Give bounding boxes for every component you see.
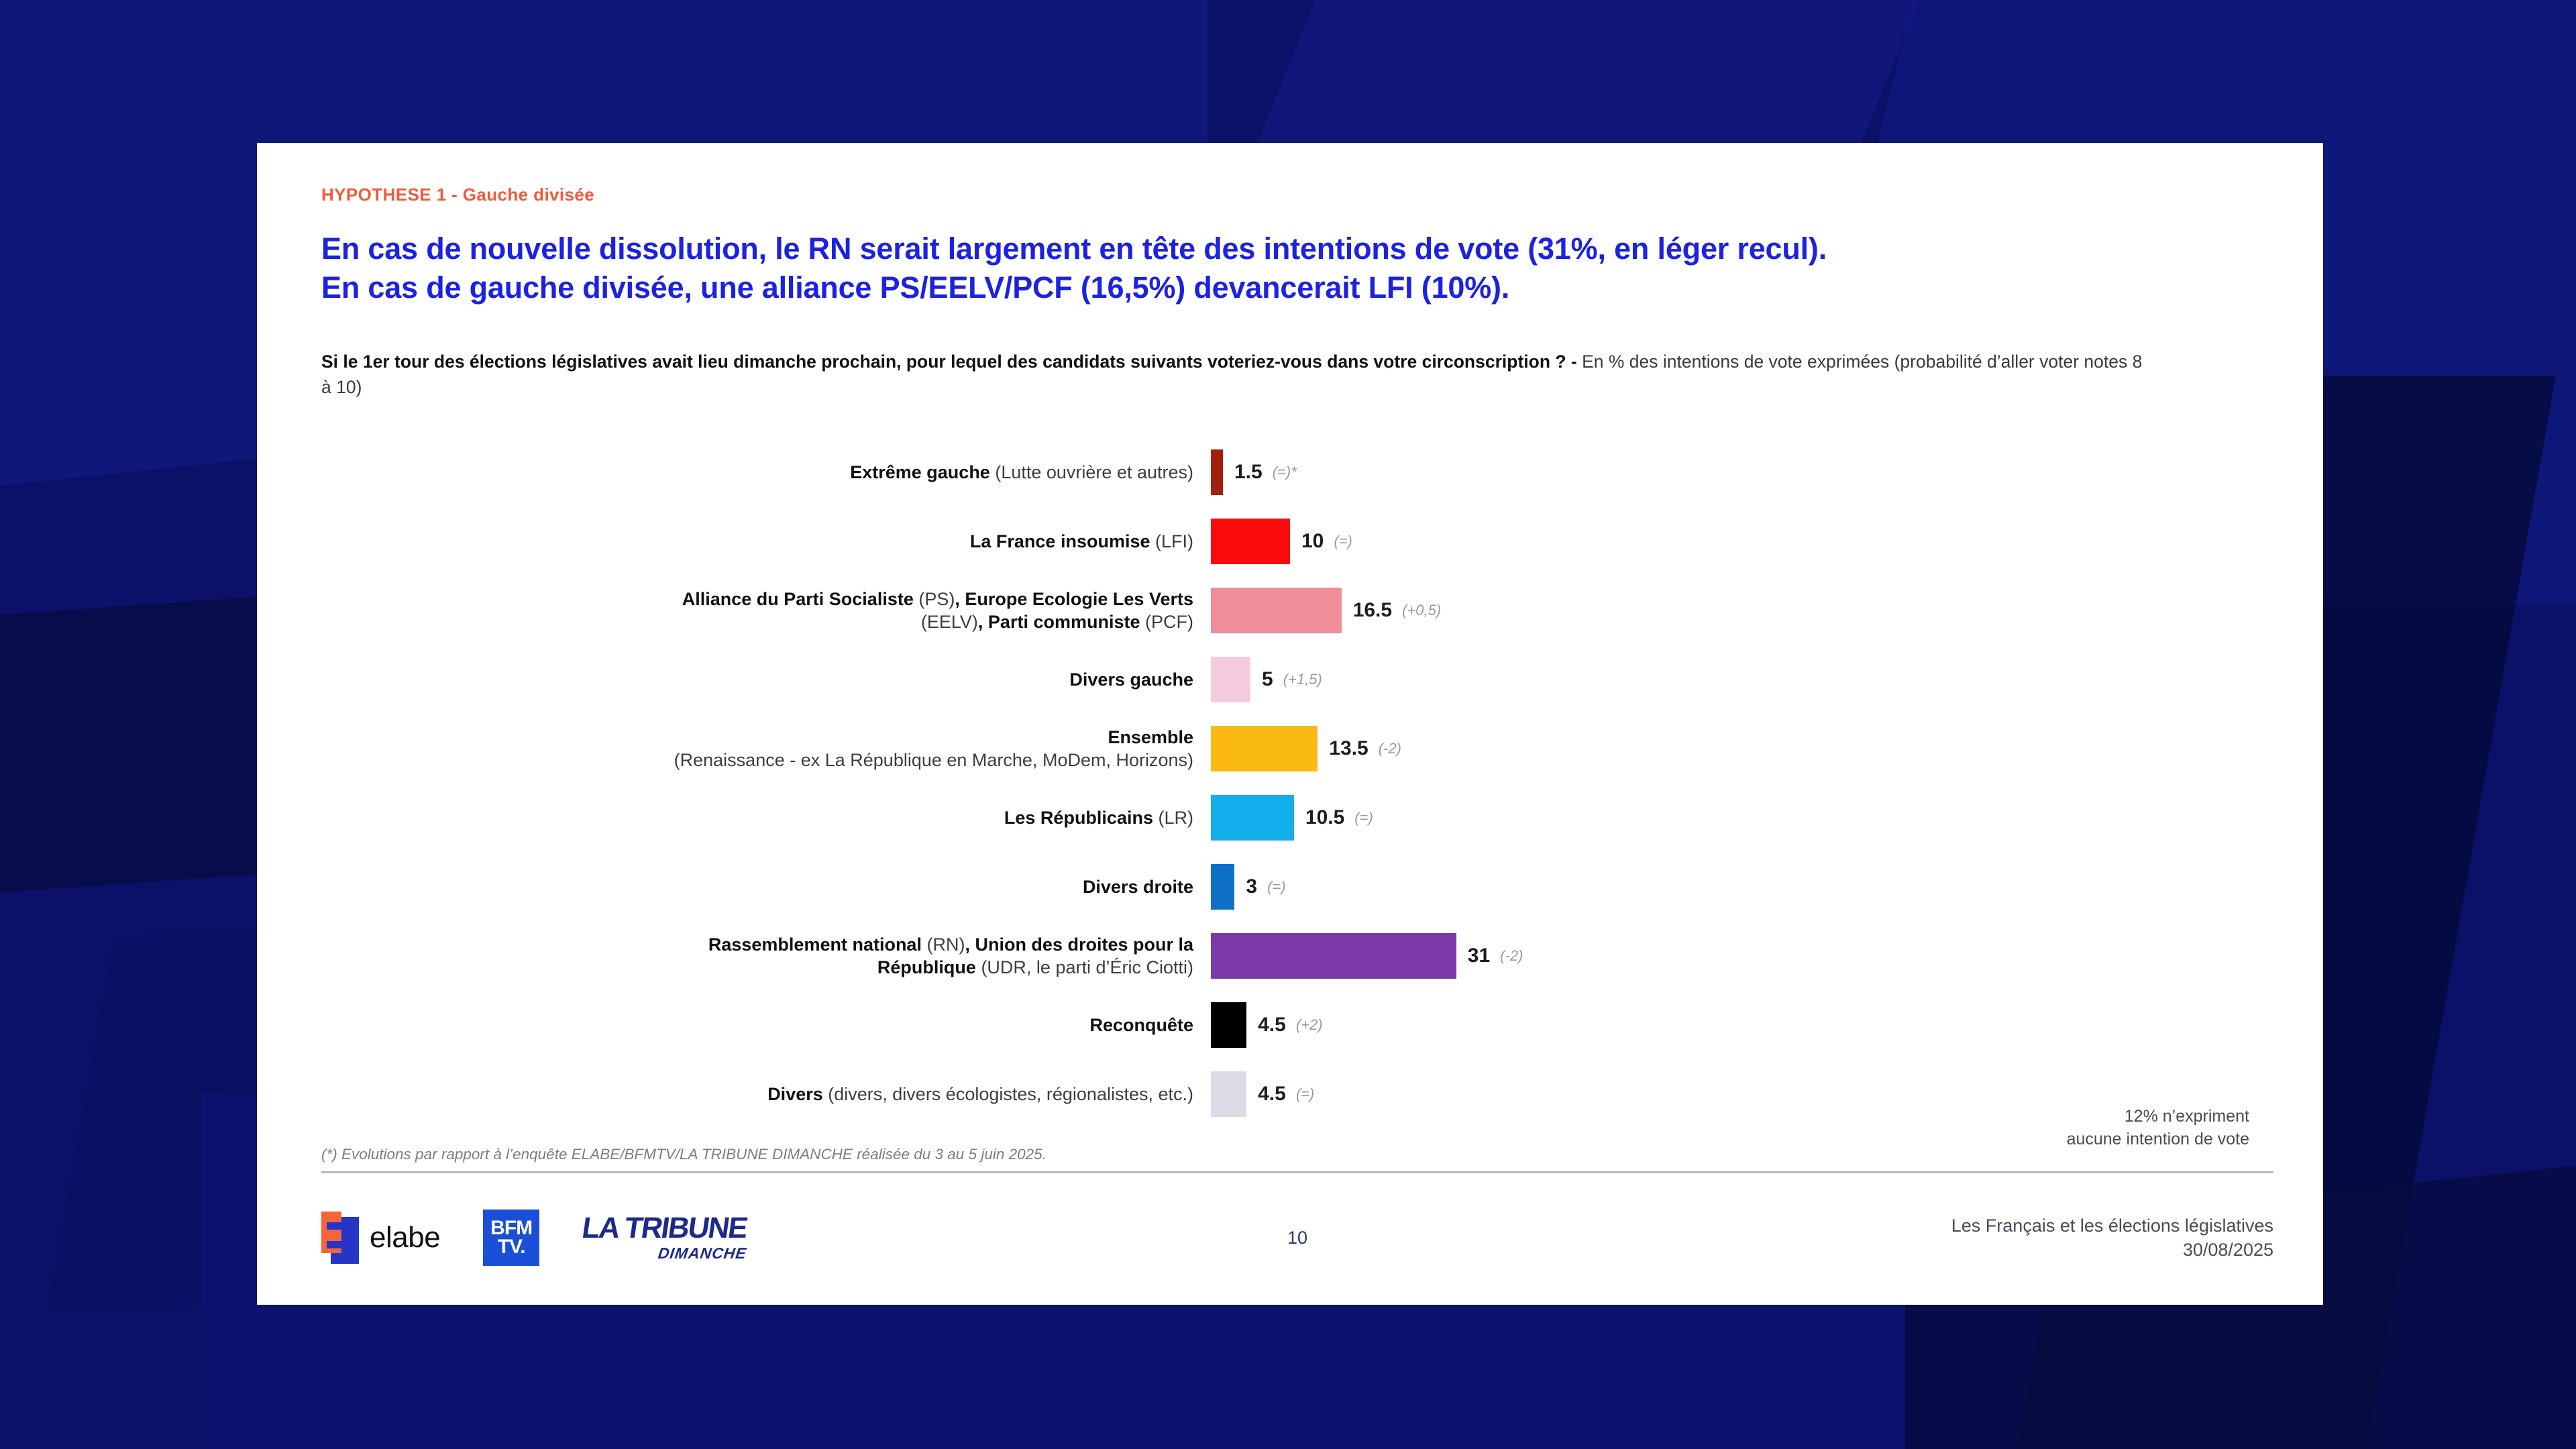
chart-bar-zone: 10(=) xyxy=(1211,519,2273,564)
chart-bar-zone: 3(=) xyxy=(1211,864,2273,910)
page-title: En cas de nouvelle dissolution, le RN se… xyxy=(321,229,2273,307)
la-tribune-wordmark: LA TRIBUNE xyxy=(580,1214,749,1243)
chart-row: Divers droite3(=) xyxy=(321,852,2273,921)
chart-bar xyxy=(1211,588,1342,633)
chart-row-label: Alliance du Parti Socialiste (PS), Europ… xyxy=(321,588,1211,633)
chart-bar-delta: (+0,5) xyxy=(1402,602,1441,619)
elabe-logo: elabe xyxy=(321,1212,440,1264)
elabe-wordmark: elabe xyxy=(370,1221,440,1254)
chart-bar-value: 5 xyxy=(1262,668,1273,691)
no-response-line-1: 12% n’expriment xyxy=(2067,1105,2249,1128)
chart-bar-zone: 5(+1,5) xyxy=(1211,657,2273,702)
chart-bar-value: 16.5 xyxy=(1353,599,1392,622)
chart-bar-delta: (-2) xyxy=(1379,740,1401,757)
chart-row-label: Divers (divers, divers écologistes, régi… xyxy=(321,1083,1211,1106)
chart-bar-value: 13.5 xyxy=(1329,737,1368,760)
headline-line-2: En cas de gauche divisée, une alliance P… xyxy=(321,268,2273,307)
chart-row: Ensemble(Renaissance - ex La République … xyxy=(321,714,2273,783)
chart-bar-zone: 10.5(=) xyxy=(1211,795,2273,841)
slide-kicker: HYPOTHESE 1 - Gauche divisée xyxy=(321,184,2273,205)
chart-row-label: Ensemble(Renaissance - ex La République … xyxy=(321,726,1211,771)
partner-logos: elabe BFM TV. LA TRIBUNE DIMANCHE xyxy=(321,1210,747,1266)
chart-bar-zone: 16.5(+0,5) xyxy=(1211,588,2273,633)
chart-bar-zone: 31(-2) xyxy=(1211,933,2273,979)
headline-line-1: En cas de nouvelle dissolution, le RN se… xyxy=(321,229,2273,268)
chart-bar xyxy=(1211,795,1294,841)
chart-row: La France insoumise (LFI)10(=) xyxy=(321,506,2273,576)
page-number: 10 xyxy=(1287,1228,1307,1248)
dimanche-wordmark: DIMANCHE xyxy=(657,1244,748,1263)
chart-row-label: La France insoumise (LFI) xyxy=(321,530,1211,553)
question-text: Si le 1er tour des élections législative… xyxy=(321,352,1582,372)
chart-row-label: Reconquête xyxy=(321,1014,1211,1036)
chart-bar-delta: (-2) xyxy=(1500,947,1523,965)
no-response-annotation: 12% n’expriment aucune intention de vote xyxy=(2067,1105,2249,1150)
chart-bar-value: 3 xyxy=(1246,875,1257,898)
footer-study-title: Les Français et les élections législativ… xyxy=(1951,1214,2273,1238)
chart-bar xyxy=(1211,864,1234,910)
elabe-mark-icon xyxy=(321,1212,359,1264)
chart-bar xyxy=(1211,657,1250,702)
chart-bar-value: 4.5 xyxy=(1258,1014,1286,1036)
chart-row-label: Divers gauche xyxy=(321,668,1211,691)
chart-row: Divers (divers, divers écologistes, régi… xyxy=(321,1059,2273,1128)
chart-row: Rassemblement national (RN), Union des d… xyxy=(321,921,2273,990)
chart-row-label: Divers droite xyxy=(321,875,1211,898)
chart-row: Extrême gauche (Lutte ouvrière et autres… xyxy=(321,437,2273,506)
chart-row: Reconquête4.5(+2) xyxy=(321,990,2273,1059)
slide-card: HYPOTHESE 1 - Gauche divisée En cas de n… xyxy=(257,143,2323,1305)
footer-date: 30/08/2025 xyxy=(1951,1238,2273,1262)
chart-bar-zone: 13.5(-2) xyxy=(1211,726,2273,771)
chart-row: Les Républicains (LR)10.5(=) xyxy=(321,783,2273,852)
bfmtv-line-2: TV. xyxy=(498,1238,525,1257)
chart-bar-delta: (=) xyxy=(1267,878,1286,896)
chart-bar xyxy=(1211,1002,1246,1048)
chart-bar-value: 31 xyxy=(1468,945,1490,967)
vote-intentions-bar-chart: Extrême gauche (Lutte ouvrière et autres… xyxy=(321,437,2273,1128)
chart-bar-value: 10 xyxy=(1301,530,1324,553)
footer-divider xyxy=(321,1171,2273,1173)
chart-bar-zone: 1.5(=)* xyxy=(1211,449,2273,495)
chart-bar-delta: (=) xyxy=(1334,533,1352,550)
bfmtv-line-1: BFM xyxy=(490,1219,532,1238)
survey-question: Si le 1er tour des élections législative… xyxy=(321,350,2146,400)
chart-bar-value: 10.5 xyxy=(1305,806,1344,829)
chart-row: Divers gauche5(+1,5) xyxy=(321,645,2273,714)
chart-bar xyxy=(1211,726,1318,771)
chart-bar-delta: (=) xyxy=(1354,809,1373,826)
chart-bar-delta: (+2) xyxy=(1296,1016,1323,1034)
slide-content: HYPOTHESE 1 - Gauche divisée En cas de n… xyxy=(321,184,2273,1173)
chart-bar-value: 4.5 xyxy=(1258,1083,1286,1106)
chart-bar-delta: (+1,5) xyxy=(1283,671,1322,688)
chart-bar-zone: 4.5(+2) xyxy=(1211,1002,2273,1048)
chart-bar xyxy=(1211,1071,1246,1117)
la-tribune-dimanche-logo: LA TRIBUNE DIMANCHE xyxy=(582,1214,747,1263)
no-response-line-2: aucune intention de vote xyxy=(2067,1128,2249,1150)
chart-bar xyxy=(1211,933,1456,979)
footnote: (*) Evolutions par rapport à l’enquête E… xyxy=(321,1146,2273,1163)
chart-row-label: Extrême gauche (Lutte ouvrière et autres… xyxy=(321,461,1211,484)
slide-footer: elabe BFM TV. LA TRIBUNE DIMANCHE 10 Les… xyxy=(321,1197,2273,1278)
bfmtv-logo: BFM TV. xyxy=(483,1210,539,1266)
footer-meta: Les Français et les élections législativ… xyxy=(1951,1214,2273,1262)
chart-row: Alliance du Parti Socialiste (PS), Europ… xyxy=(321,576,2273,645)
chart-bar-value: 1.5 xyxy=(1234,461,1263,484)
chart-bar xyxy=(1211,449,1223,495)
kicker-label: HYPOTHESE 1 - xyxy=(321,184,463,205)
chart-bar xyxy=(1211,519,1290,564)
kicker-subtitle: Gauche divisée xyxy=(463,184,594,205)
chart-bar-delta: (=)* xyxy=(1273,464,1297,481)
chart-row-label: Rassemblement national (RN), Union des d… xyxy=(321,933,1211,979)
chart-row-label: Les Républicains (LR) xyxy=(321,806,1211,829)
chart-bar-delta: (=) xyxy=(1296,1085,1315,1103)
